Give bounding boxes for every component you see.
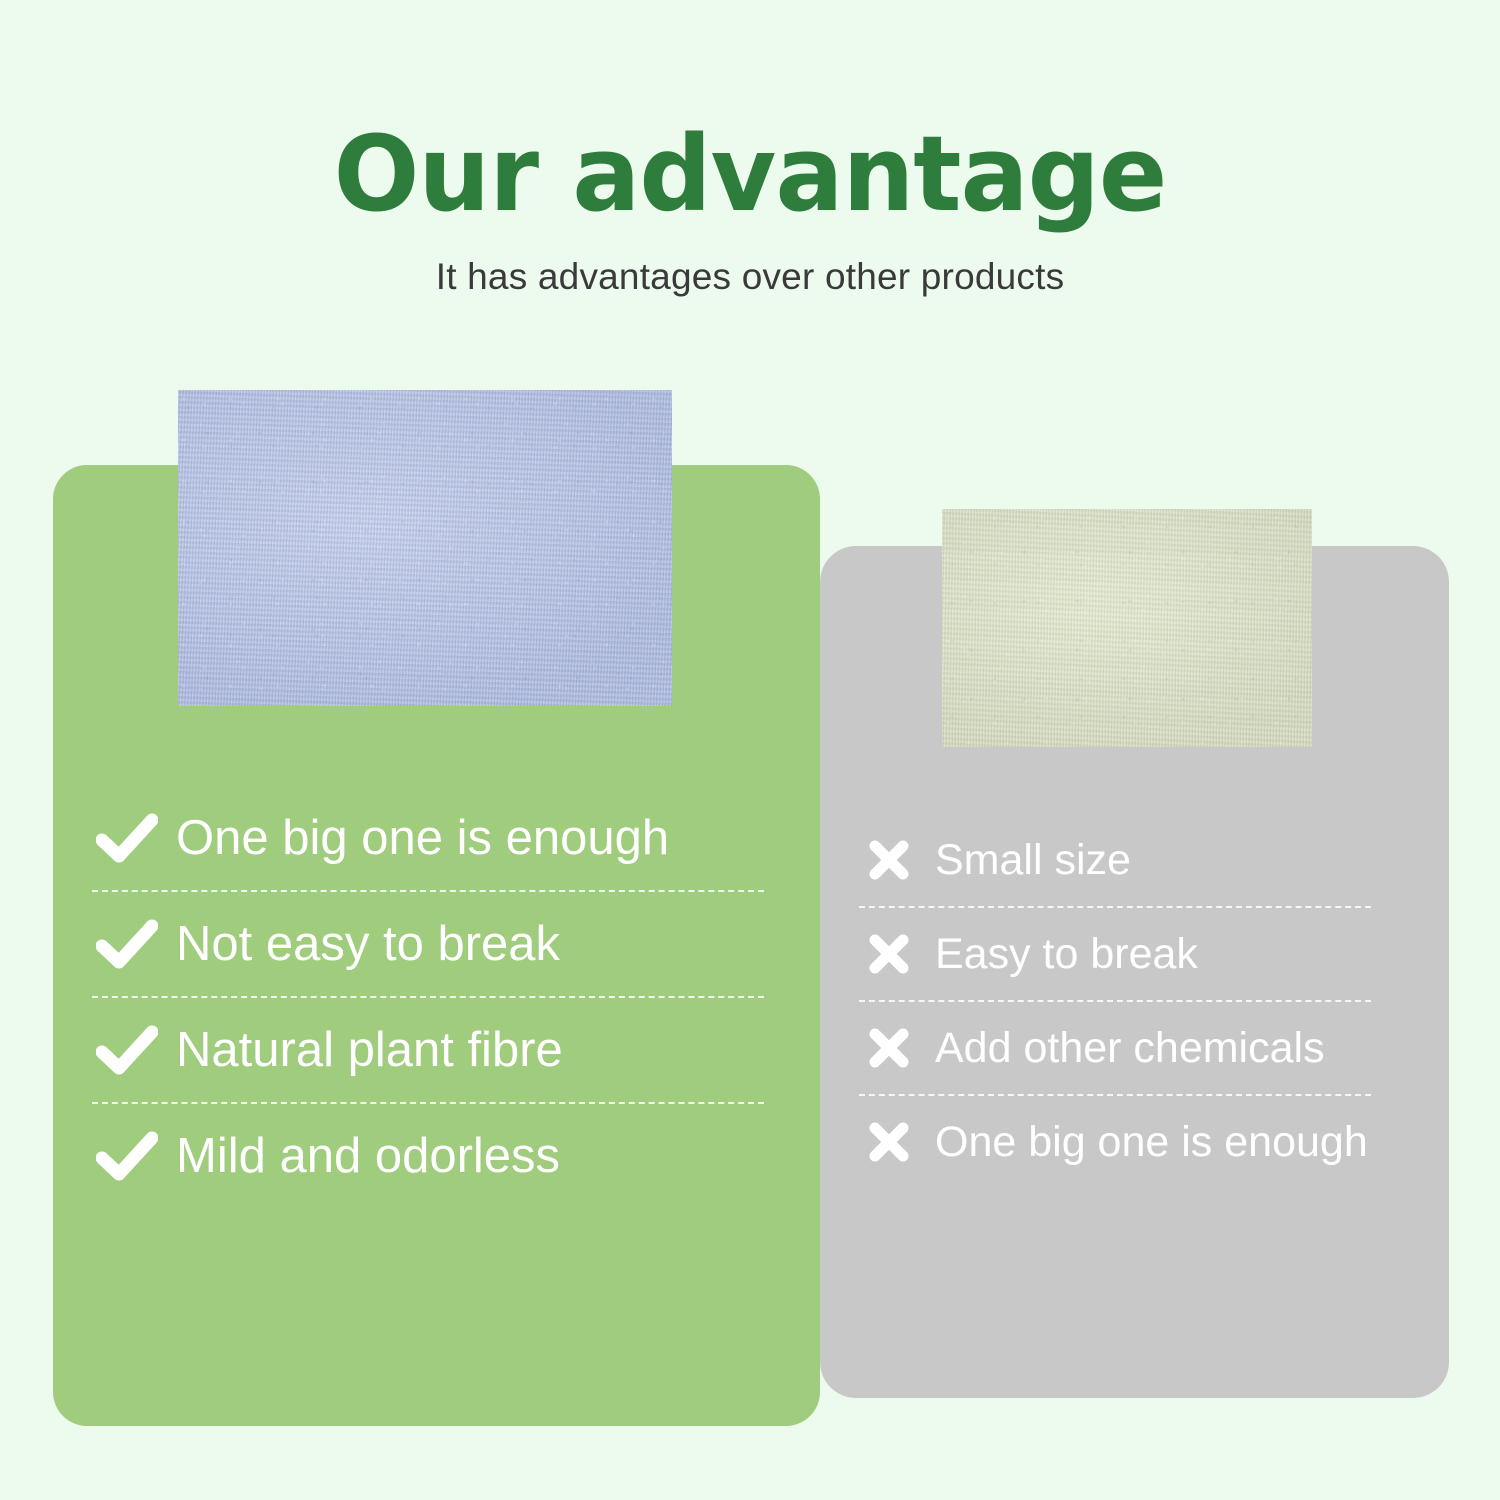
list-item-label: One big one is enough [166,810,669,866]
list-divider [92,996,764,998]
advantage-infographic: Our advantage It has advantages over oth… [0,0,1500,1500]
header: Our advantage It has advantages over oth… [0,118,1500,298]
list-item: Add other chemicals [855,1006,1435,1090]
check-icon [88,1019,166,1081]
list-item-label: Not easy to break [166,916,560,972]
list-item-label: Small size [923,836,1131,885]
list-item: One big one is enough [855,1100,1435,1184]
cross-icon [855,834,923,886]
list-item-label: One big one is enough [923,1118,1368,1167]
list-divider [859,906,1371,908]
list-item: Not easy to break [88,896,788,992]
list-divider [92,1102,764,1104]
list-divider [859,1094,1371,1096]
page-title: Our advantage [23,118,1478,230]
list-divider [92,890,764,892]
list-item: Mild and odorless [88,1108,788,1204]
list-item: One big one is enough [88,790,788,886]
list-item: Easy to break [855,912,1435,996]
list-divider [859,1000,1371,1002]
page-subtitle: It has advantages over other products [0,230,1500,298]
list-item: Small size [855,818,1435,902]
competitor-feature-list: Small size Easy to break Add other chemi… [855,818,1435,1184]
list-item: Natural plant fibre [88,1002,788,1098]
list-item-label: Easy to break [923,930,1198,979]
list-item-label: Mild and odorless [166,1128,560,1184]
list-item-label: Add other chemicals [923,1024,1325,1073]
blue-cloth-swatch [178,390,672,706]
cross-icon [855,1116,923,1168]
check-icon [88,807,166,869]
green-cloth-swatch [942,509,1312,747]
cross-icon [855,1022,923,1074]
product-feature-list: One big one is enough Not easy to break … [88,790,788,1204]
check-icon [88,913,166,975]
check-icon [88,1125,166,1187]
list-item-label: Natural plant fibre [166,1022,563,1078]
cross-icon [855,928,923,980]
